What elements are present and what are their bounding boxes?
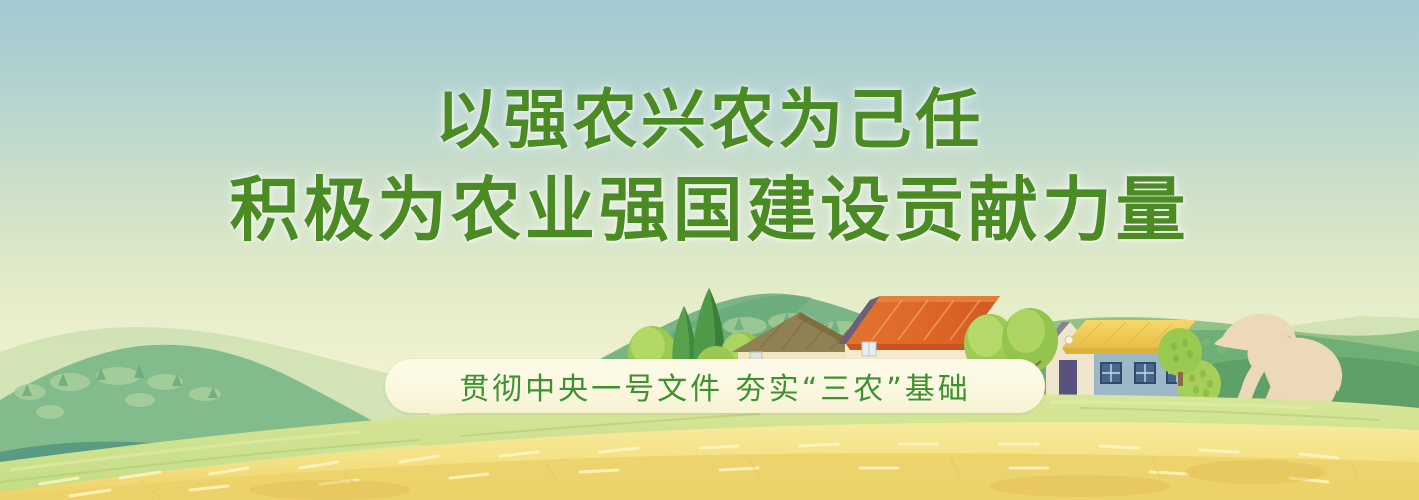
subtitle-text: 贯彻中央一号文件 夯实“三农”基础 [459, 364, 971, 408]
wheat-field-layer [0, 0, 1419, 500]
agriculture-banner: 以强农兴农为己任 积极为农业强国建设贡献力量 贯彻中央一号文件 夯实“三农”基础 [0, 0, 1419, 500]
subtitle-banner: 贯彻中央一号文件 夯实“三农”基础 [385, 359, 1045, 413]
